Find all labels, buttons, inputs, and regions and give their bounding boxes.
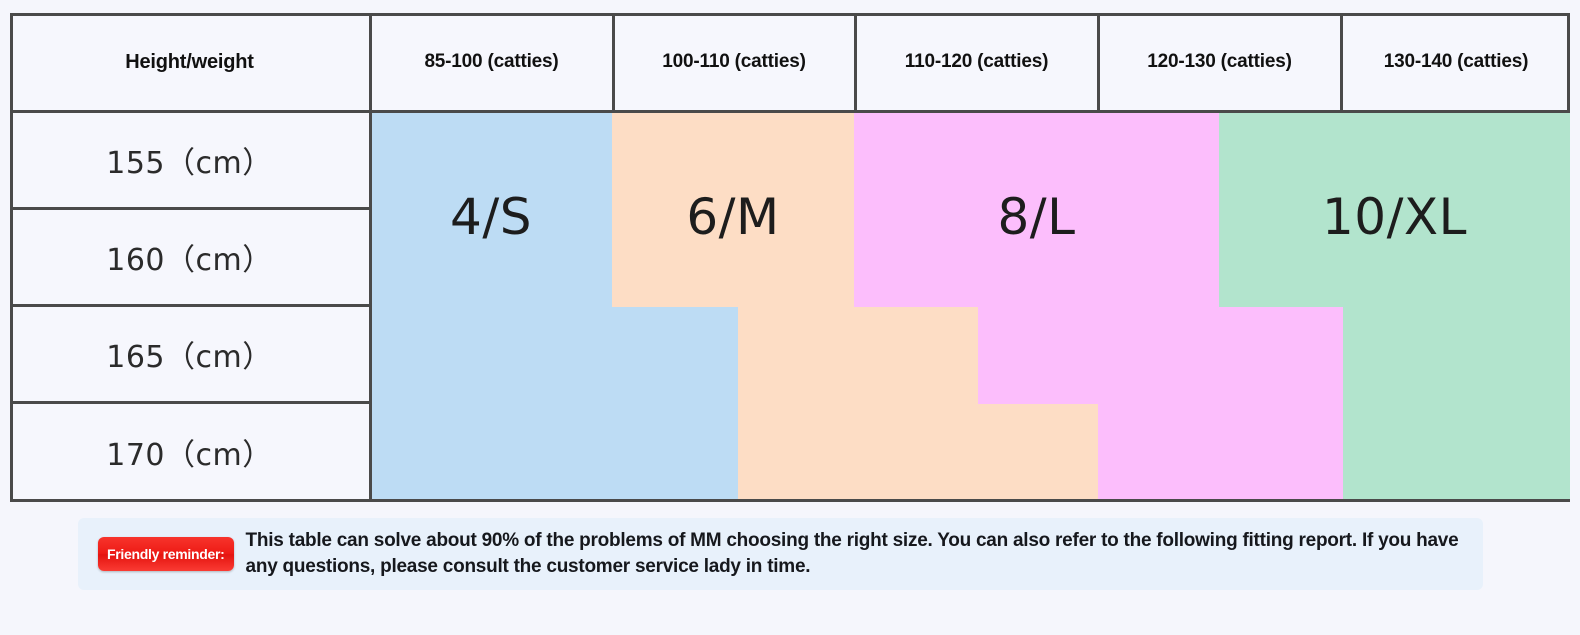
size-chart-page: 4/S 6/M 8/L 10/XL Height/weight 85-100 (…	[0, 0, 1580, 635]
gridline-v-col5	[1340, 13, 1343, 112]
gridline-h-top	[10, 13, 1570, 16]
gridline-h-row1	[10, 207, 370, 210]
gridline-v-col4	[1097, 13, 1100, 112]
gridline-h-row3	[10, 401, 370, 404]
gridline-h-bottom	[10, 499, 1570, 502]
reminder-badge: Friendly reminder:	[98, 537, 234, 571]
gridline-v-left	[10, 13, 13, 502]
gridline-h-header	[10, 110, 1570, 113]
gridline-v-col3	[854, 13, 857, 112]
gridline-h-row2	[10, 304, 370, 307]
gridline-v-right	[1567, 13, 1570, 112]
gridline-v-col2	[612, 13, 615, 112]
reminder-text: This table can solve about 90% of the pr…	[246, 528, 1469, 579]
gridline-v-col1	[369, 13, 372, 502]
table-gridlines	[10, 13, 1570, 502]
size-chart-table: 4/S 6/M 8/L 10/XL Height/weight 85-100 (…	[10, 13, 1570, 502]
friendly-reminder-bar: Friendly reminder: This table can solve …	[78, 518, 1483, 590]
